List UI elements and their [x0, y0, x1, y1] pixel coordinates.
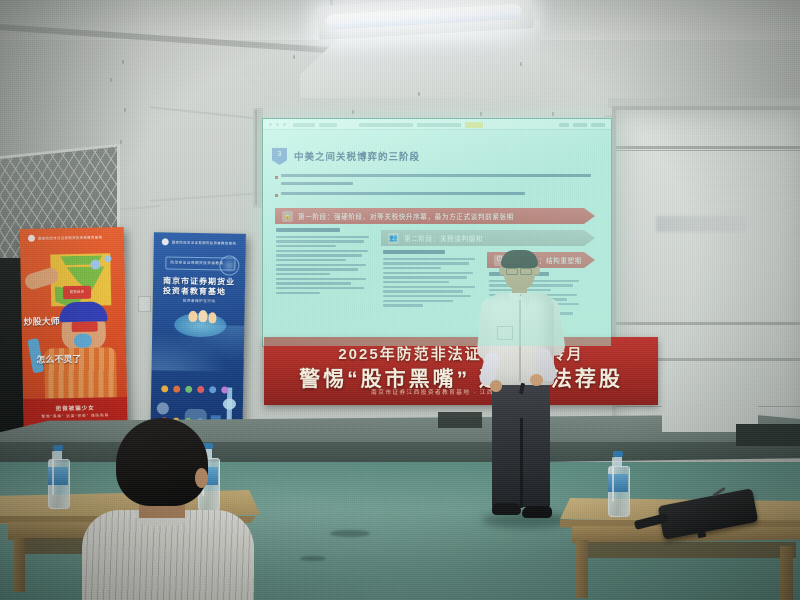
figure-icon	[198, 310, 207, 322]
rollup-orange-sticker: 防非反诈	[63, 286, 91, 300]
browser-address-bar[interactable]	[359, 123, 413, 127]
wall-socket	[138, 296, 151, 312]
wall-conduit	[255, 110, 257, 205]
lecture-hall-scene: 3 中美之间关税博弈的三阶段 🔒 第一阶段：强硬阶段、对等关税快升序幕，最为方正…	[0, 0, 800, 600]
slide-bullet	[275, 192, 535, 197]
presenter-hand-right	[530, 374, 543, 386]
floor-scuff	[300, 556, 326, 561]
org-logo-icon	[28, 235, 35, 242]
compass-icon	[219, 255, 239, 275]
handshake-icon: 👥	[388, 233, 399, 244]
rollup-blue-headline: 南京市证券期货业 投资者教育基地	[163, 276, 239, 297]
stage-1-label: 第一阶段：强硬阶段、对等关税快升序幕，最为方正式谈判前紧张期	[298, 211, 514, 221]
browser-toolbar	[263, 119, 611, 130]
lock-icon: 🔒	[282, 211, 293, 222]
stage-2-body	[383, 250, 479, 309]
browser-menu-icon[interactable]	[559, 123, 569, 127]
browser-highlight-badge	[465, 122, 483, 128]
audience-ear	[195, 468, 208, 488]
presenter-leg-split	[520, 418, 523, 508]
slide-section-badge: 3	[272, 148, 287, 165]
presenter-hand-left	[490, 380, 502, 392]
presenter-shoe-left	[492, 503, 521, 515]
wall-nail	[120, 140, 122, 144]
rollup-blue-logo-text: 国家防范非法证券期货投资者教育基地	[172, 240, 237, 246]
wall-nail	[480, 112, 482, 116]
presenter-shirt-placket	[519, 300, 521, 382]
rollup-blue-logo: 国家防范非法证券期货投资者教育基地	[162, 238, 237, 246]
stage-2-arrow: 👥 第二阶段：关税谈判缓和	[381, 230, 595, 246]
bullet-text-line	[281, 182, 353, 185]
whiteboard-rail	[616, 146, 800, 149]
org-logo-icon	[162, 238, 169, 245]
browser-back-icon[interactable]	[269, 123, 272, 126]
bottle-3	[608, 451, 628, 515]
cartoon-character-icon: 炒股大师 怎么不灵了 防非反诈	[20, 251, 127, 403]
wall-nail	[293, 55, 295, 59]
rollup-orange-headline-2: 怎么不灵了	[36, 352, 92, 366]
presenter-shoe-right	[522, 506, 552, 518]
presenter-hair	[501, 250, 538, 268]
whiteboard-rail	[616, 322, 800, 325]
desk-right-leg	[780, 546, 793, 600]
bottle-highlight	[52, 451, 54, 494]
rollup-orange-logo-text: 国家防范非法证券期货投资者教育基地	[38, 234, 103, 240]
presenter-shirt-pocket	[497, 326, 513, 340]
presenter	[468, 250, 576, 570]
wall-nail	[110, 78, 112, 82]
wall-nail	[124, 108, 126, 112]
bullet-marker-icon	[275, 176, 278, 179]
rollup-blue-tagline: 防范非法证券期货投资者教育	[170, 260, 223, 266]
stage-1-body	[276, 228, 372, 296]
floor-scuff	[330, 530, 370, 537]
desk-right-shelf	[584, 542, 796, 558]
browser-forward-icon[interactable]	[276, 123, 279, 126]
wall-recess	[736, 424, 800, 446]
bottle-1	[48, 445, 68, 507]
whiteboard-panel-line	[616, 150, 800, 151]
figure-icon	[208, 312, 216, 323]
slide-title: 中美之间关税博弈的三阶段	[294, 149, 420, 163]
wall-nail	[122, 60, 124, 64]
event-banner: 2025年防范非法证券期货宣传月 警惕“股市黑嘴” 远离非法荐股 南京市证券江西…	[264, 337, 658, 405]
desk-right-leg	[576, 540, 588, 598]
presenter-glasses-right	[520, 268, 532, 275]
folder-tab	[697, 528, 707, 538]
wall-nail	[520, 62, 522, 66]
bottle-highlight	[612, 457, 614, 502]
browser-tab[interactable]	[319, 123, 337, 127]
wall-nail	[352, 110, 354, 114]
desk-left-leg	[14, 538, 25, 592]
audience-front	[92, 418, 232, 600]
rollup-orange-footer-title: 拒做被骗少女	[23, 403, 127, 413]
browser-more-icon[interactable]	[591, 123, 605, 127]
audience-hair	[116, 418, 208, 506]
rollup-orange-logo: 国家防范非法证券期货投资者教育基地	[28, 233, 103, 241]
slide-bullet	[275, 174, 600, 179]
stage-1-arrow: 🔒 第一阶段：强硬阶段、对等关税快升序幕，最为方正式谈判前紧张期	[275, 208, 595, 224]
bullet-text-line	[281, 192, 525, 195]
stage-2-label: 第二阶段：关税谈判缓和	[404, 233, 483, 243]
browser-tab[interactable]	[293, 123, 315, 127]
whiteboard-ghost-writing	[656, 216, 746, 232]
browser-address-text	[417, 123, 461, 127]
fluorescent-tube-icon	[326, 4, 523, 30]
browser-profile-icon[interactable]	[573, 123, 587, 127]
bullet-marker-icon	[275, 194, 278, 197]
rollup-blue-subtitle: 投资者保护在行动	[183, 299, 216, 305]
event-banner-line3: 南京市证券江西投资者教育基地 · 江西省证券期货业协会	[264, 388, 658, 396]
event-banner-line1: 2025年防范非法证券期货宣传月	[264, 343, 658, 364]
stage-2-body-heading	[383, 250, 445, 254]
stage-1-body-heading	[276, 228, 340, 232]
figure-icon	[188, 311, 197, 322]
wall-nail	[552, 112, 554, 116]
bullet-text-line	[281, 174, 591, 177]
wall-nail	[418, 92, 420, 96]
presenter-glasses-left	[506, 268, 518, 275]
browser-reload-icon[interactable]	[283, 123, 286, 126]
